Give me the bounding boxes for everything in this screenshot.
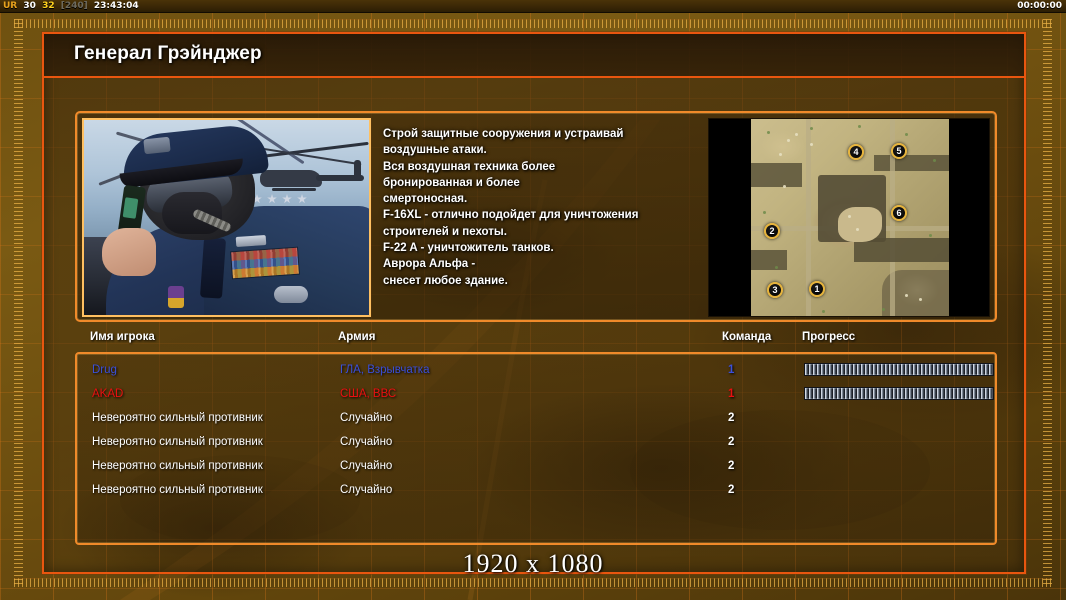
- table-row[interactable]: Невероятно сильный противникСлучайно2: [77, 430, 995, 454]
- general-portrait-frame: [82, 118, 371, 317]
- pilot-wings-badge: [236, 235, 267, 247]
- helicopter-skid-icon: [272, 188, 316, 191]
- player-name[interactable]: Невероятно сильный противник: [92, 430, 263, 454]
- player-team[interactable]: 2: [728, 430, 734, 454]
- player-team[interactable]: 2: [728, 406, 734, 430]
- fps-current: 30: [23, 0, 36, 13]
- table-row[interactable]: Невероятно сильный противникСлучайно2: [77, 454, 995, 478]
- helicopter-fin-icon: [354, 160, 361, 180]
- start-position-5[interactable]: 5: [891, 143, 907, 159]
- top-status-bar: UR 30 32 [240] 23:43:04 00:00:00: [0, 0, 1066, 13]
- status-label: UR: [0, 0, 17, 13]
- start-position-4[interactable]: 4: [848, 144, 864, 160]
- uniform-tie: [200, 237, 226, 298]
- bezel-ruler-right: [1043, 19, 1052, 587]
- player-table: DrugГЛА, Взрывчатка1AKADСША, ВВС1Невероя…: [75, 352, 997, 545]
- player-army[interactable]: ГЛА, Взрывчатка: [340, 358, 429, 382]
- player-army[interactable]: Случайно: [340, 430, 392, 454]
- map-terrain: [874, 155, 949, 171]
- radio-button: [123, 197, 139, 219]
- player-progress: [804, 363, 994, 376]
- table-row[interactable]: Невероятно сильный противникСлучайно2: [77, 406, 995, 430]
- general-portrait-image: [84, 120, 369, 315]
- player-army[interactable]: Случайно: [340, 478, 392, 502]
- player-team[interactable]: 1: [728, 382, 734, 406]
- service-ribbons-detail: [231, 248, 299, 279]
- uniform-badge: [274, 286, 308, 303]
- general-info-panel: Строй защитные сооружения и устраивай во…: [75, 111, 997, 322]
- map-forest: [854, 238, 949, 262]
- frame-total: [240]: [61, 0, 88, 13]
- player-name[interactable]: Невероятно сильный противник: [92, 478, 263, 502]
- page-title: Генерал Грэйнджер: [74, 43, 262, 65]
- bezel-ruler-top: [14, 19, 1052, 28]
- table-row[interactable]: Невероятно сильный противникСлучайно2: [77, 478, 995, 502]
- table-row[interactable]: DrugГЛА, Взрывчатка1: [77, 358, 995, 382]
- column-header-team: Команда: [722, 331, 771, 343]
- minimap-image: 123456: [751, 119, 949, 317]
- resolution-overlay: 1920 x 1080: [0, 549, 1066, 579]
- player-team[interactable]: 2: [728, 478, 734, 502]
- start-position-3[interactable]: 3: [767, 282, 783, 298]
- player-progress: [804, 387, 994, 400]
- purple-heart-medal: [168, 286, 184, 308]
- bezel-ruler-left: [14, 19, 23, 587]
- session-timer: 00:00:00: [1017, 0, 1062, 13]
- player-table-header: Имя игрока Армия Команда Прогресс: [75, 331, 997, 351]
- oxygen-mask: [162, 192, 222, 234]
- bezel-ruler-bottom: [14, 578, 1052, 587]
- window-title-bar: Генерал Грэйнджер: [44, 34, 1024, 78]
- general-hand: [102, 228, 156, 276]
- player-name[interactable]: Невероятно сильный противник: [92, 406, 263, 430]
- player-name[interactable]: AKAD: [92, 382, 123, 406]
- cap-insignia: [143, 137, 170, 155]
- skirmish-lobby-window: Генерал Грэйнджер: [42, 32, 1026, 574]
- system-clock: 23:43:04: [94, 0, 139, 13]
- table-row[interactable]: AKADСША, ВВС1: [77, 382, 995, 406]
- column-header-progress: Прогресс: [802, 331, 855, 343]
- start-position-6[interactable]: 6: [891, 205, 907, 221]
- progress-bar-fill: [804, 387, 994, 400]
- player-army[interactable]: Случайно: [340, 406, 392, 430]
- rank-stars: [252, 194, 328, 206]
- start-position-2[interactable]: 2: [764, 223, 780, 239]
- minimap-frame[interactable]: 123456: [708, 118, 990, 317]
- player-team[interactable]: 1: [728, 358, 734, 382]
- progress-bar-fill: [804, 363, 994, 376]
- player-name[interactable]: Невероятно сильный противник: [92, 454, 263, 478]
- map-terrain: [751, 250, 787, 270]
- helicopter-icon: [260, 170, 322, 187]
- game-screen: UR 30 32 [240] 23:43:04 00:00:00 Генерал…: [0, 0, 1066, 600]
- player-team[interactable]: 2: [728, 454, 734, 478]
- map-center-plateau: [838, 207, 882, 243]
- column-header-player-name: Имя игрока: [90, 331, 155, 343]
- fps-max: 32: [42, 0, 55, 13]
- column-header-army: Армия: [338, 331, 375, 343]
- map-terrain: [751, 163, 802, 187]
- player-name[interactable]: Drug: [92, 358, 117, 382]
- player-army[interactable]: Случайно: [340, 454, 392, 478]
- player-army[interactable]: США, ВВС: [340, 382, 396, 406]
- general-description: Строй защитные сооружения и устраивай во…: [383, 126, 693, 289]
- start-position-1[interactable]: 1: [809, 281, 825, 297]
